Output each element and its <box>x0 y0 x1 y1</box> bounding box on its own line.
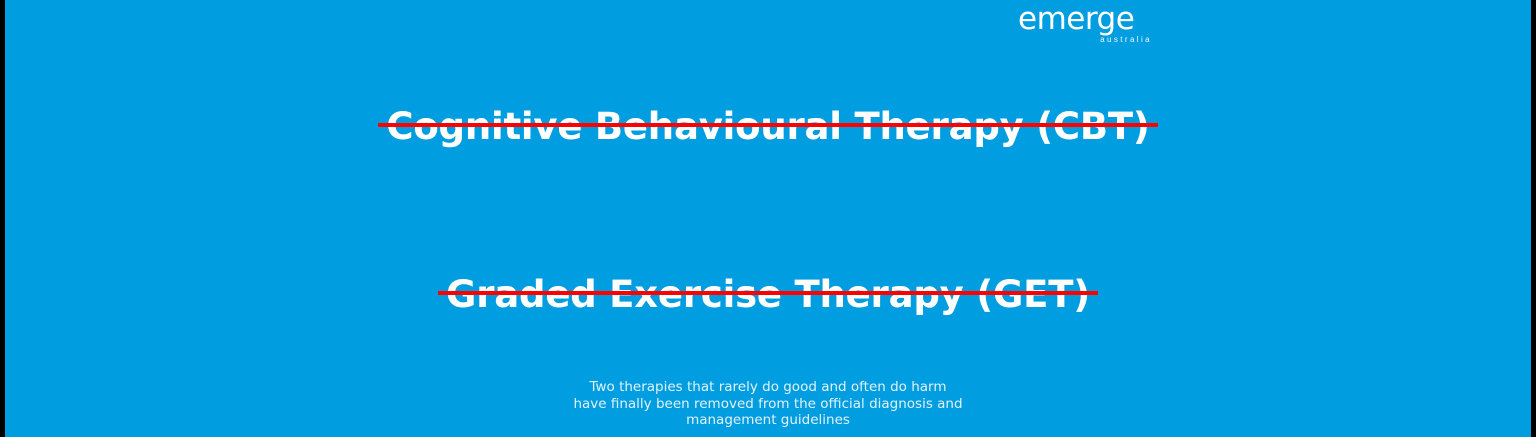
slide-canvas: emerge australia Cognitive Behavioural T… <box>0 0 1536 437</box>
strikethrough-line-get <box>438 291 1098 295</box>
headline-cbt: Cognitive Behavioural Therapy (CBT) <box>378 104 1157 150</box>
caption-line-3: management guidelines <box>5 412 1531 429</box>
logo-wordmark: emerge <box>1016 4 1156 34</box>
caption-line-2: have finally been removed from the offic… <box>5 396 1531 413</box>
caption-line-1: Two therapies that rarely do good and of… <box>5 379 1531 396</box>
caption-block: Two therapies that rarely do good and of… <box>5 379 1531 429</box>
logo-subtitle: australia <box>1016 34 1156 45</box>
emerge-australia-logo: emerge australia <box>1016 4 1156 48</box>
headline-get: Graded Exercise Therapy (GET) <box>438 272 1098 318</box>
strikethrough-line-cbt <box>378 123 1157 127</box>
headline-row-get: Graded Exercise Therapy (GET) <box>5 272 1531 318</box>
headline-row-cbt: Cognitive Behavioural Therapy (CBT) <box>5 104 1531 150</box>
